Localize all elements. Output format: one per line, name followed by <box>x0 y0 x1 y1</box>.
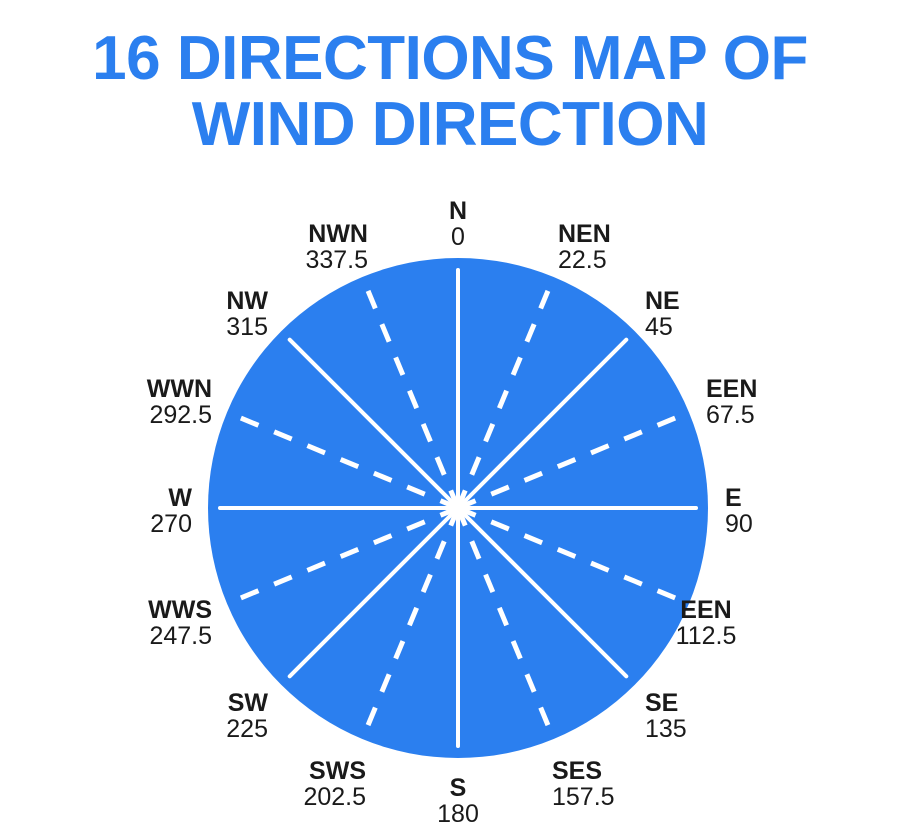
direction-label-wws-247-5: WWS247.5 <box>148 597 212 649</box>
direction-abbr: EEN <box>706 376 757 402</box>
direction-label-een-112-5: EEN112.5 <box>676 597 737 649</box>
direction-abbr: SES <box>552 758 615 784</box>
compass-svg <box>0 0 900 837</box>
direction-degrees: 180 <box>437 801 479 827</box>
compass-center-hub <box>455 505 462 512</box>
direction-degrees: 292.5 <box>147 402 212 428</box>
wind-direction-infographic: 16 DIRECTIONS MAP OF WIND DIRECTION N0NE… <box>0 0 900 837</box>
direction-label-nwn-337-5: NWN337.5 <box>305 221 368 273</box>
direction-label-een-67-5: EEN67.5 <box>706 376 757 428</box>
direction-abbr: N <box>449 198 467 224</box>
direction-abbr: W <box>150 485 192 511</box>
direction-degrees: 135 <box>645 716 687 742</box>
direction-abbr: NW <box>226 288 268 314</box>
direction-degrees: 90 <box>725 511 753 537</box>
direction-label-e-90: E90 <box>725 485 753 537</box>
direction-abbr: NWN <box>305 221 368 247</box>
direction-degrees: 45 <box>645 314 680 340</box>
direction-abbr: EEN <box>676 597 737 623</box>
direction-label-wwn-292-5: WWN292.5 <box>147 376 212 428</box>
direction-abbr: NE <box>645 288 680 314</box>
direction-label-sw-225: SW225 <box>226 690 268 742</box>
direction-label-ses-157-5: SES157.5 <box>552 758 615 810</box>
direction-degrees: 112.5 <box>676 623 737 649</box>
direction-degrees: 225 <box>226 716 268 742</box>
direction-label-w-270: W270 <box>150 485 192 537</box>
direction-label-s-180: S180 <box>437 775 479 827</box>
direction-abbr: WWS <box>148 597 212 623</box>
direction-degrees: 337.5 <box>305 247 368 273</box>
direction-label-se-135: SE135 <box>645 690 687 742</box>
direction-label-nw-315: NW315 <box>226 288 268 340</box>
direction-label-nen-22-5: NEN22.5 <box>558 221 611 273</box>
direction-degrees: 157.5 <box>552 784 615 810</box>
direction-label-n-0: N0 <box>449 198 467 250</box>
direction-abbr: NEN <box>558 221 611 247</box>
direction-abbr: E <box>725 485 753 511</box>
direction-abbr: SE <box>645 690 687 716</box>
direction-abbr: WWN <box>147 376 212 402</box>
direction-degrees: 67.5 <box>706 402 757 428</box>
direction-degrees: 270 <box>150 511 192 537</box>
direction-abbr: SWS <box>303 758 366 784</box>
compass-diagram: N0NEN22.5NE45EEN67.5E90EEN112.5SE135SES1… <box>0 0 900 837</box>
direction-label-ne-45: NE45 <box>645 288 680 340</box>
direction-degrees: 22.5 <box>558 247 611 273</box>
direction-label-sws-202-5: SWS202.5 <box>303 758 366 810</box>
direction-degrees: 315 <box>226 314 268 340</box>
direction-abbr: SW <box>226 690 268 716</box>
direction-abbr: S <box>437 775 479 801</box>
direction-degrees: 202.5 <box>303 784 366 810</box>
direction-degrees: 0 <box>449 224 467 250</box>
direction-degrees: 247.5 <box>148 623 212 649</box>
compass-spoke-layer <box>220 270 696 746</box>
